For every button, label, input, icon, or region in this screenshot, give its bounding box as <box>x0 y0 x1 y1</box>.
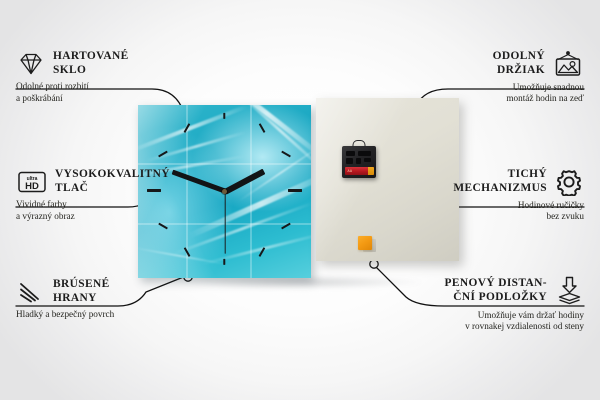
tick-mark <box>259 123 266 133</box>
feature-title: VYSOKOKVALITNÝ TLAČ <box>55 168 170 195</box>
wall-hanger-hook <box>353 140 366 147</box>
feature-title: BRÚSENÉ HRANY <box>53 278 110 305</box>
feature-title-line1: HARTOVANÉ <box>53 50 129 64</box>
feature-title-line2: MECHANIZMUS <box>453 182 547 196</box>
feature-description: Umožňuje vám držať hodiny v rovnakej vzd… <box>398 310 584 333</box>
clock-movement-housing: AA <box>342 146 376 178</box>
feature-header: HARTOVANÉ SKLO <box>16 50 202 77</box>
feature-desc-line2: a poškrábání <box>16 93 202 104</box>
feature-header: BRÚSENÉ HRANY <box>16 278 202 305</box>
feature-title: HARTOVANÉ SKLO <box>53 50 129 77</box>
feature-title: PENOVÝ DISTAN- ČNÍ PODLOŽKY <box>444 277 547 304</box>
feature-title-line2: DRŽIAK <box>493 64 545 78</box>
feature-description: Umožňuje snadnou montáž hodin na zeď <box>398 82 584 105</box>
feature-description: Hladký a bezpečný povrch <box>16 309 202 320</box>
battery-label: AA <box>348 169 353 173</box>
wall-frame-hanger-icon <box>552 50 584 78</box>
feature-desc-line2: bez zvuku <box>398 211 584 222</box>
clock-center-pin <box>222 189 227 194</box>
tick-mark <box>288 189 302 192</box>
feature-title-line2: TLAČ <box>55 182 170 196</box>
feature-header: PENOVÝ DISTAN- ČNÍ PODLOŽKY <box>398 276 584 306</box>
ground-edges-icon <box>16 280 46 304</box>
feature-title: TICHÝ MECHANIZMUS <box>453 168 547 195</box>
feature-tempered-glass: HARTOVANÉ SKLO Odolné proti rozbití a po… <box>16 50 202 104</box>
feature-desc-line1: Hodinové ručičky <box>398 200 584 211</box>
feature-desc-line2: v rovnakej vzdialenosti od steny <box>398 321 584 332</box>
feature-desc-line1: Vividné farby <box>16 199 202 210</box>
feature-header: ultra HD VYSOKOKVALITNÝ TLAČ <box>16 168 202 195</box>
feature-desc-line1: Umožňuje snadnou <box>398 82 584 93</box>
feature-title-line2: ČNÍ PODLOŽKY <box>444 291 547 305</box>
feature-header: ODOLNÝ DRŽIAK <box>398 50 584 78</box>
feature-title-line2: SKLO <box>53 64 129 78</box>
feature-high-quality-print: ultra HD VYSOKOKVALITNÝ TLAČ Vividné far… <box>16 168 202 222</box>
feature-description: Vividné farby a výrazný obraz <box>16 199 202 222</box>
clock-hour-hand <box>223 168 264 194</box>
feature-description: Odolné proti rozbití a poškrábání <box>16 81 202 104</box>
callout-dot-foam-spacers <box>370 260 378 268</box>
feature-title: ODOLNÝ DRŽIAK <box>493 50 545 77</box>
feature-header: TICHÝ MECHANIZMUS <box>398 168 584 196</box>
feature-silent-mechanism: TICHÝ MECHANIZMUS Hodinové ručičky bez z… <box>398 168 584 223</box>
gear-icon <box>554 168 584 196</box>
feature-desc-line2: a výrazný obraz <box>16 211 202 222</box>
ultra-hd-badge-icon: ultra HD <box>16 169 48 195</box>
feature-description: Hodinové ručičky bez zvuku <box>398 200 584 223</box>
feature-title-line1: BRÚSENÉ <box>53 278 110 292</box>
feature-title-line1: ODOLNÝ <box>493 50 545 64</box>
feature-title-line1: VYSOKOKVALITNÝ <box>55 168 170 182</box>
feature-title-line1: TICHÝ <box>453 168 547 182</box>
feature-foam-spacers: PENOVÝ DISTAN- ČNÍ PODLOŽKY Umožňuje vám… <box>398 276 584 333</box>
clock-battery: AA <box>345 167 374 175</box>
foam-spacer-pad <box>358 236 372 250</box>
badge-large-text: HD <box>25 181 39 192</box>
tick-mark <box>223 259 225 265</box>
feature-title-line2: HRANY <box>53 292 110 306</box>
stacked-pads-arrow-icon <box>554 276 584 306</box>
tick-mark <box>281 151 291 158</box>
tick-mark <box>223 113 225 119</box>
feature-desc-line1: Umožňuje vám držať hodiny <box>398 310 584 321</box>
feature-ground-edges: BRÚSENÉ HRANY Hladký a bezpečný povrch <box>16 278 202 321</box>
feature-desc-line1: Odolné proti rozbití <box>16 81 202 92</box>
feature-desc-line2: montáž hodin na zeď <box>398 93 584 104</box>
diamond-icon <box>16 51 46 77</box>
battery-positive-cap <box>368 167 374 175</box>
infographic-canvas: AA HARTOVANÉ SKLO Odolné proti rozbití <box>0 0 600 400</box>
feature-desc-line1: Hladký a bezpečný povrch <box>16 309 202 320</box>
feature-durable-holder: ODOLNÝ DRŽIAK Umožňuje snadnou montáž ho… <box>398 50 584 105</box>
clock-second-hand <box>224 192 225 254</box>
feature-title-line1: PENOVÝ DISTAN- <box>444 277 547 291</box>
